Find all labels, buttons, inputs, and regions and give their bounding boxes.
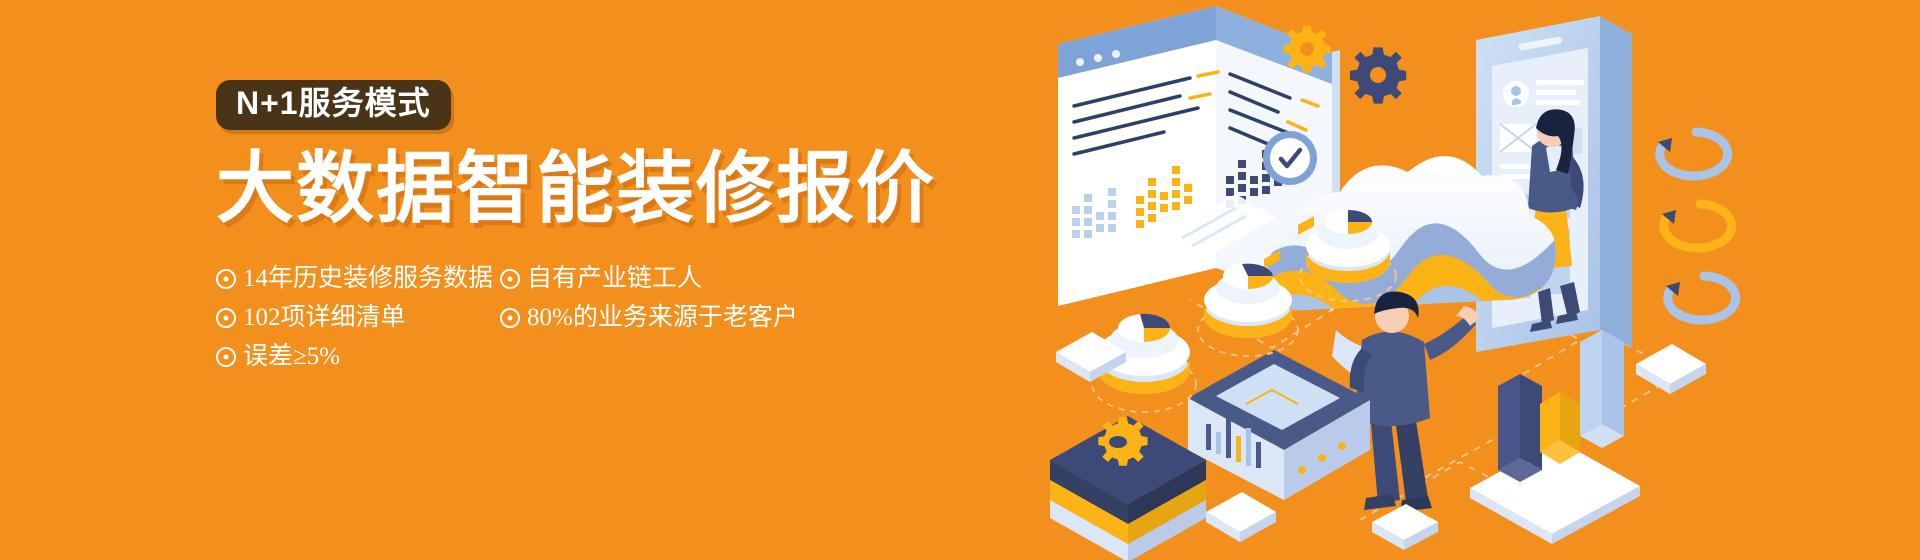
floating-tile bbox=[1636, 344, 1706, 394]
list-item-label: 14年历史装修服务数据 bbox=[243, 266, 493, 291]
copy-block: N+1服务模式 大数据智能装修报价 14年历史装修服务数据 102项详细清单 误… bbox=[216, 80, 976, 376]
list-item-label: 自有产业链工人 bbox=[527, 266, 702, 291]
list-item: 自有产业链工人 bbox=[500, 259, 976, 298]
podium-bars bbox=[1498, 330, 1624, 482]
list-item-label: 80%的业务来源于老客户 bbox=[527, 305, 798, 330]
list-item-label: 102项详细清单 bbox=[243, 305, 406, 330]
refresh-ring-icon bbox=[1666, 276, 1736, 320]
refresh-ring-icon bbox=[1658, 132, 1728, 176]
bullet-dot-icon bbox=[500, 308, 520, 328]
floating-tile bbox=[1206, 492, 1276, 542]
list-item: 14年历史装修服务数据 bbox=[216, 259, 478, 298]
gear-icon-yellow bbox=[1283, 26, 1330, 73]
bullet-dot-icon bbox=[216, 347, 236, 367]
page-title: 大数据智能装修报价 bbox=[216, 148, 976, 230]
list-item: 误差≥5% bbox=[216, 337, 478, 376]
bullet-dot-icon bbox=[216, 308, 236, 328]
feature-list: 14年历史装修服务数据 102项详细清单 误差≥5% 自有产业链工人 80%的业… bbox=[216, 259, 976, 376]
check-badge-icon bbox=[1263, 131, 1317, 185]
gear-icon-navy bbox=[1350, 47, 1406, 103]
bar-chart-podium bbox=[1470, 330, 1640, 544]
bullet-dot-icon bbox=[500, 269, 520, 289]
refresh-ring-icon bbox=[1662, 204, 1732, 248]
list-item: 80%的业务来源于老客户 bbox=[500, 298, 976, 337]
bullet-dot-icon bbox=[216, 269, 236, 289]
list-item: 102项详细清单 bbox=[216, 298, 478, 337]
floating-tile bbox=[1372, 504, 1438, 550]
gear-icon-yellow bbox=[1098, 417, 1147, 466]
list-item-label: 误差≥5% bbox=[243, 344, 340, 369]
isometric-illustration bbox=[1040, 0, 1920, 560]
gear-cube-stack bbox=[1050, 416, 1206, 560]
service-mode-badge: N+1服务模式 bbox=[216, 80, 451, 130]
promo-banner: N+1服务模式 大数据智能装修报价 14年历史装修服务数据 102项详细清单 误… bbox=[0, 0, 1920, 560]
